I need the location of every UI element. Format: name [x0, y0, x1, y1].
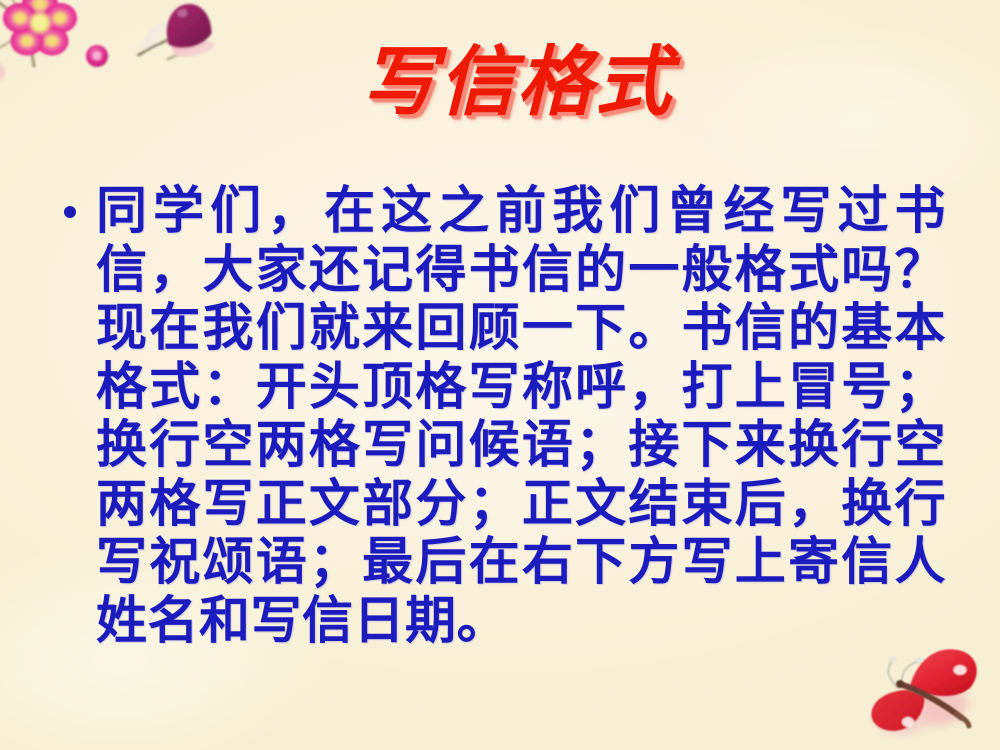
bullet-item-text: 同学们，在这之前我们曾经写过书信，大家还记得书信的一般格式吗？现在我们就来回顾一…	[96, 182, 946, 650]
butterfly-shadow	[874, 682, 968, 734]
slide-title: 写信格式	[0, 40, 1000, 124]
body-bullet-list: 同学们，在这之前我们曾经写过书信，大家还记得书信的一般格式吗？现在我们就来回顾一…	[56, 182, 946, 650]
slide-title-text: 写信格式	[327, 40, 673, 124]
butterfly-upper-wing	[910, 649, 977, 696]
slide-canvas: 写信格式 同学们，在这之前我们曾经写过书信，大家还记得书信的一般格式吗？现在我们…	[0, 0, 1000, 750]
bullet-dot-icon	[64, 206, 76, 218]
butterfly-lower-wing	[871, 690, 924, 731]
bullet-marker	[56, 182, 96, 650]
butterfly-body	[896, 680, 969, 726]
butterfly-red-decoration	[838, 638, 998, 748]
antenna-icon	[888, 655, 924, 688]
